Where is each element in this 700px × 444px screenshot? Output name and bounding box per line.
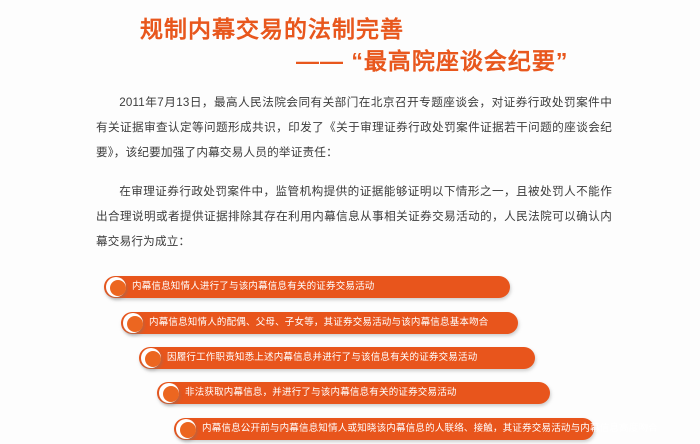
bullet-circle-icon bbox=[123, 313, 143, 333]
bullet-circle-icon bbox=[176, 419, 196, 439]
list-item[interactable]: 内幕信息公开前与内幕信息知情人或知晓该内幕信息的人联络、接触，其证券交易活动与内… bbox=[174, 418, 594, 440]
list-item[interactable]: 内幕信息知情人进行了与该内幕信息有关的证券交易活动 bbox=[104, 276, 510, 298]
bullet-bar-label: 内幕信息知情人进行了与该内幕信息有关的证券交易活动 bbox=[132, 276, 375, 298]
bullet-bar-label: 内幕信息公开前与内幕信息知情人或知晓该内幕信息的人联络、接触，其证券交易活动与内… bbox=[202, 418, 658, 440]
title-block: 规制内幕交易的法制完善 —— “最高院座谈会纪要” bbox=[0, 14, 700, 76]
page-title-primary: 规制内幕交易的法制完善 bbox=[0, 14, 700, 44]
bullet-bar-label: 内幕信息知情人的配偶、父母、子女等，其证券交易活动与该内幕信息基本吻合 bbox=[149, 312, 489, 334]
body-block: 2011年7月13日，最高人民法院会同有关部门在北京召开专题座谈会，对证券行政处… bbox=[96, 90, 612, 268]
bullet-circle-icon bbox=[141, 348, 161, 368]
bullet-circle-icon bbox=[159, 383, 179, 403]
bullet-dot-icon bbox=[145, 351, 161, 367]
list-item[interactable]: 非法获取内幕信息，并进行了与该内幕信息有关的证券交易活动 bbox=[157, 382, 550, 404]
paragraph-criteria-intro: 在审理证券行政处罚案件中，监管机构提供的证据能够证明以下情形之一，且被处罚人不能… bbox=[96, 179, 612, 254]
list-item[interactable]: 内幕信息知情人的配偶、父母、子女等，其证券交易活动与该内幕信息基本吻合 bbox=[121, 312, 518, 334]
slide-root: 规制内幕交易的法制完善 —— “最高院座谈会纪要” 2011年7月13日，最高人… bbox=[0, 0, 700, 444]
bullet-bar-list: 内幕信息知情人进行了与该内幕信息有关的证券交易活动 内幕信息知情人的配偶、父母、… bbox=[0, 272, 700, 444]
paragraph-background: 2011年7月13日，最高人民法院会同有关部门在北京召开专题座谈会，对证券行政处… bbox=[96, 90, 612, 165]
bullet-dot-icon bbox=[127, 316, 143, 332]
list-item[interactable]: 因履行工作职责知悉上述内幕信息并进行了与该信息有关的证券交易活动 bbox=[139, 347, 535, 369]
bullet-dot-icon bbox=[163, 386, 179, 402]
bullet-bar-label: 非法获取内幕信息，并进行了与该内幕信息有关的证券交易活动 bbox=[185, 382, 457, 404]
bullet-circle-icon bbox=[106, 277, 126, 297]
bullet-dot-icon bbox=[180, 422, 196, 438]
bullet-bar-label: 因履行工作职责知悉上述内幕信息并进行了与该信息有关的证券交易活动 bbox=[167, 347, 477, 369]
bullet-dot-icon bbox=[110, 280, 126, 296]
page-title-subtitle: —— “最高院座谈会纪要” bbox=[0, 46, 700, 76]
